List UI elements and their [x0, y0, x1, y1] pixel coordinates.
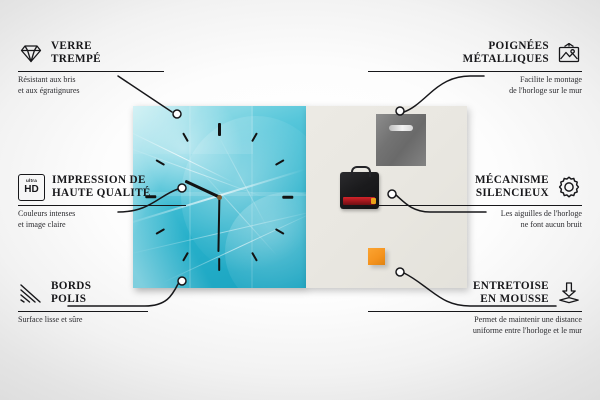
feature-title: ENTRETOISE EN MOUSSE [473, 280, 549, 305]
clock-tick [283, 196, 294, 199]
feature-rule [18, 311, 148, 312]
polished-edges-icon [18, 280, 44, 306]
feature-rule [368, 311, 582, 312]
feature-rule [18, 205, 186, 206]
feature-desc: Permet de maintenir une distance uniform… [368, 315, 582, 336]
orange-foam-spacer [368, 248, 385, 265]
hanger-slot [389, 125, 413, 131]
feature-head: BORDS POLIS [18, 278, 232, 308]
ultra-hd-icon: ultra HD [18, 174, 45, 201]
feature-desc: Les aiguilles de l'horloge ne font aucun… [368, 209, 582, 230]
feature-callout-mecanisme: MÉCANISME SILENCIEUX Les aiguilles de l'… [368, 172, 582, 230]
feature-rule [368, 205, 582, 206]
feature-rule [368, 71, 582, 72]
clock-tick [274, 159, 284, 166]
gear-icon [556, 174, 582, 200]
ultra-hd-icon-large-text: HD [24, 185, 38, 195]
feature-desc: Résistant aux bris et aux égratignures [18, 75, 232, 96]
clock-tick [218, 258, 220, 271]
feature-callout-bords-polis: BORDS POLIS Surface lisse et sûre [18, 278, 232, 326]
feature-head: VERRE TREMPÉ [18, 38, 232, 68]
clock-tick [218, 123, 220, 136]
clock-tick [182, 132, 189, 142]
clock-tick [155, 159, 165, 166]
feature-head: ENTRETOISE EN MOUSSE [368, 278, 582, 308]
feature-title: BORDS POLIS [51, 280, 91, 305]
clock-tick [251, 252, 258, 262]
clock-tick [274, 228, 284, 235]
feature-callout-verre-trempe: VERRE TREMPÉ Résistant aux bris et aux é… [18, 38, 232, 96]
clock-tick [251, 132, 258, 142]
feature-title: POIGNÉES MÉTALLIQUES [463, 40, 549, 65]
feature-callout-impression: ultra HD IMPRESSION DE HAUTE QUALITÉ Cou… [18, 172, 232, 230]
wall-mount-frame-icon [556, 40, 582, 66]
metal-hanger-plate [376, 114, 426, 166]
feature-head: ultra HD IMPRESSION DE HAUTE QUALITÉ [18, 172, 232, 202]
feature-head: POIGNÉES MÉTALLIQUES [368, 38, 582, 68]
feature-callout-entretoise: ENTRETOISE EN MOUSSE Permet de maintenir… [368, 278, 582, 336]
feature-title: VERRE TREMPÉ [51, 40, 101, 65]
feature-head: MÉCANISME SILENCIEUX [368, 172, 582, 202]
feature-rule [18, 71, 164, 72]
diamond-icon [18, 40, 44, 66]
infographic-canvas: VERRE TREMPÉ Résistant aux bris et aux é… [0, 0, 600, 400]
clock-tick [182, 252, 189, 262]
foam-spacer-arrow-icon [556, 280, 582, 306]
feature-desc: Surface lisse et sûre [18, 315, 232, 325]
feature-desc: Couleurs intenses et image claire [18, 209, 232, 230]
feature-callout-poignees: POIGNÉES MÉTALLIQUES Facilite le montage… [368, 38, 582, 96]
feature-title: IMPRESSION DE HAUTE QUALITÉ [52, 174, 151, 199]
feature-title: MÉCANISME SILENCIEUX [475, 174, 549, 199]
feature-desc: Facilite le montage de l'horloge sur le … [368, 75, 582, 96]
